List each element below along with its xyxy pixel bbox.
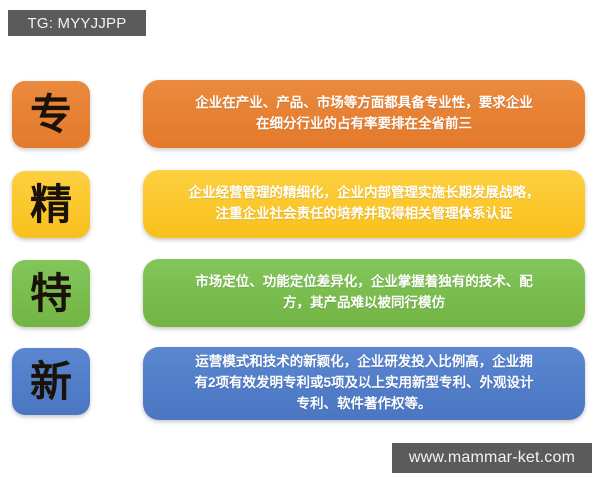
description-line: 运营模式和技术的新颖化，企业研发投入比例高，企业拥 (194, 352, 533, 373)
watermark-bottom-right: www.mammar-ket.com (392, 443, 592, 473)
description-line: 企业在产业、产品、市场等方面都具备专业性，要求企业 (195, 93, 533, 114)
description-xin: 运营模式和技术的新颖化，企业研发投入比例高，企业拥 有2项有效发明专利或5项及以… (143, 347, 585, 420)
badge-xin: 新 (12, 348, 90, 415)
badge-te: 特 (12, 260, 90, 327)
badge-zhuan: 专 (12, 81, 90, 148)
description-line: 在细分行业的占有率要排在全省前三 (195, 114, 533, 135)
description-zhuan: 企业在产业、产品、市场等方面都具备专业性，要求企业 在细分行业的占有率要排在全省… (143, 80, 585, 148)
description-line: 注重企业社会责任的培养并取得相关管理体系认证 (189, 204, 540, 225)
description-te: 市场定位、功能定位差异化，企业掌握着独有的技术、配 方，其产品难以被同行模仿 (143, 259, 585, 327)
description-line: 市场定位、功能定位差异化，企业掌握着独有的技术、配 (195, 272, 533, 293)
description-line: 方，其产品难以被同行模仿 (195, 293, 533, 314)
badge-jing: 精 (12, 171, 90, 238)
description-jing: 企业经营管理的精细化，企业内部管理实施长期发展战略， 注重企业社会责任的培养并取… (143, 170, 585, 238)
description-line: 有2项有效发明专利或5项及以上实用新型专利、外观设计 (194, 373, 533, 394)
description-line: 专利、软件著作权等。 (194, 394, 533, 415)
description-line: 企业经营管理的精细化，企业内部管理实施长期发展战略， (189, 183, 540, 204)
watermark-top-left: TG: MYYJJPP (8, 10, 146, 36)
